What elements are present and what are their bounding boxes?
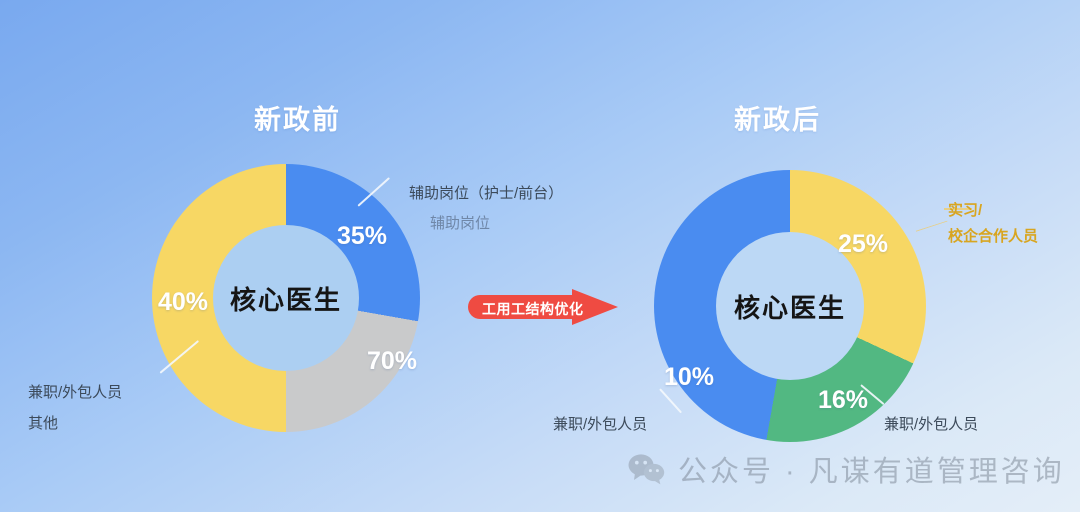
watermark: 公众号 · 凡谋有道管理咨询 [628, 448, 1065, 490]
arrow-label: 工用工结构优化 [482, 299, 584, 319]
watermark-text: 公众号 · 凡谋有道管理咨询 [678, 448, 1065, 490]
callout-assistant-roles-secondary: 辅助岗位 [430, 212, 490, 235]
slide-canvas: 新政前 核心医生 35% 70% 40% 辅助岗位（护士/前台） 辅助岗位 兼职… [0, 0, 1080, 512]
slice-value-parttime-after: 16% [818, 386, 868, 415]
panel-title-after: 新政后 [734, 98, 821, 137]
callout-others-before: 其他 [28, 412, 58, 435]
panel-title-before: 新政前 [254, 98, 341, 137]
callout-assistant-roles-primary: 辅助岗位（护士/前台） [409, 182, 563, 205]
callout-intern-line1: 实习/ [948, 199, 982, 222]
donut-chart-after: 核心医生 [654, 170, 926, 442]
donut-center-label-after: 核心医生 [734, 288, 846, 325]
callout-parttime-outsourced-before: 兼职/外包人员 [28, 381, 122, 404]
slice-value-assistant-before: 35% [337, 222, 387, 251]
transition-arrow: 工用工结构优化 [468, 289, 618, 325]
callout-parttime-outsourced-left-after: 兼职/外包人员 [553, 413, 647, 436]
slice-value-others-before: 70% [367, 347, 417, 376]
slice-value-parttime-before: 40% [158, 288, 208, 317]
slice-value-intern-after: 25% [838, 230, 888, 259]
donut-center-label-before: 核心医生 [230, 280, 342, 317]
callout-intern-line2: 校企合作人员 [948, 225, 1038, 248]
wechat-icon [628, 453, 666, 485]
leader-line-intern-after [911, 207, 947, 231]
slice-value-parttime2-after: 10% [664, 363, 714, 392]
callout-parttime-outsourced-right-after: 兼职/外包人员 [884, 413, 978, 436]
